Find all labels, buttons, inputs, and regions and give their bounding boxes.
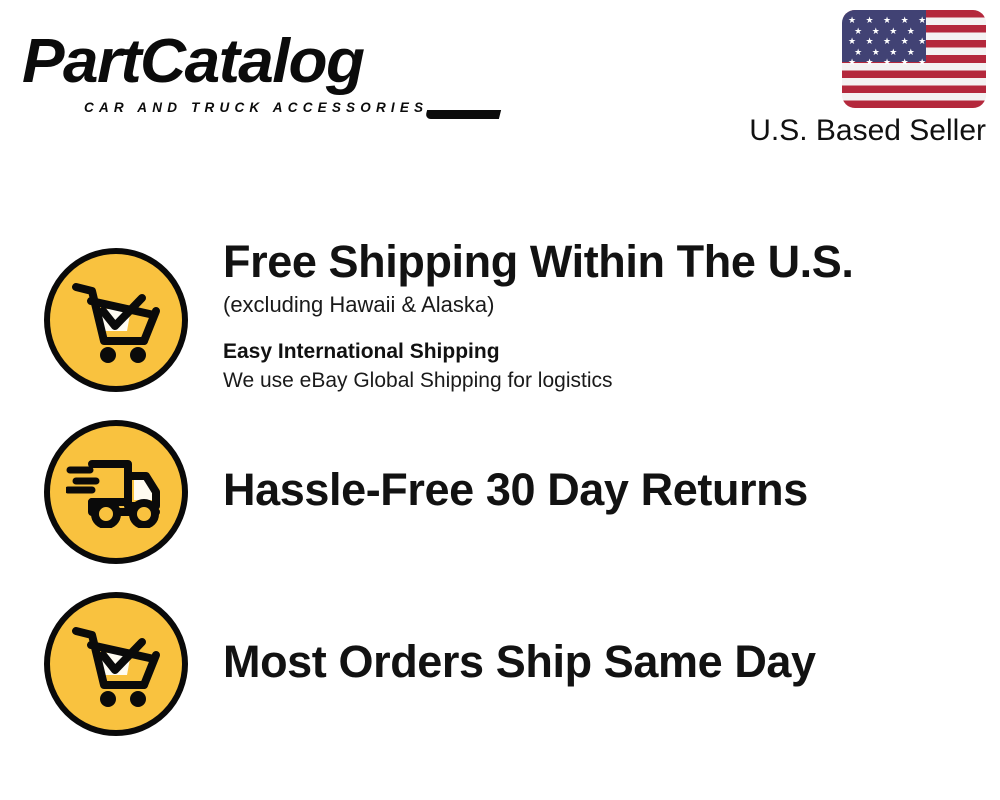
us-based-seller-label: U.S. Based Seller bbox=[749, 114, 986, 148]
brand-tagline: CAR AND TRUCK ACCESSORIES bbox=[84, 100, 428, 115]
feature-extra-title: Easy International Shipping bbox=[223, 338, 963, 366]
feature-text-block: Free Shipping Within The U.S. (excluding… bbox=[223, 236, 963, 396]
feature-subtitle: (excluding Hawaii & Alaska) bbox=[223, 290, 963, 320]
shopping-cart-check-icon bbox=[44, 248, 188, 392]
brand-wordmark: PartCatalog bbox=[22, 26, 506, 98]
us-flag-icon: ★ ★ ★ ★ ★ ★ ★ ★ ★ ★ ★ ★ ★ ★ ★ ★ ★ ★ ★ ★ … bbox=[842, 10, 986, 108]
feature-title: Free Shipping Within The U.S. bbox=[223, 236, 963, 288]
feature-title: Hassle-Free 30 Day Returns bbox=[223, 464, 963, 516]
feature-title: Most Orders Ship Same Day bbox=[223, 636, 963, 688]
delivery-truck-icon bbox=[44, 420, 188, 564]
promo-banner-page: { "header": { "brand": { "wordmark": "Pa… bbox=[0, 0, 1000, 800]
brand-underline-swoosh bbox=[425, 110, 501, 119]
shopping-cart-check-icon bbox=[44, 592, 188, 736]
flag-stars: ★ ★ ★ ★ ★ ★ ★ ★ ★ ★ ★ ★ ★ ★ ★ ★ ★ ★ ★ ★ … bbox=[842, 10, 986, 108]
feature-text-block: Hassle-Free 30 Day Returns bbox=[223, 464, 963, 516]
feature-text-block: Most Orders Ship Same Day bbox=[223, 636, 963, 688]
feature-extra-block: Easy International Shipping We use eBay … bbox=[223, 338, 963, 396]
feature-extra-subtitle: We use eBay Global Shipping for logistic… bbox=[223, 366, 963, 396]
page-header: PartCatalog CAR AND TRUCK ACCESSORIES ★ … bbox=[0, 0, 1000, 170]
brand-logo[interactable]: PartCatalog CAR AND TRUCK ACCESSORIES bbox=[22, 26, 492, 116]
